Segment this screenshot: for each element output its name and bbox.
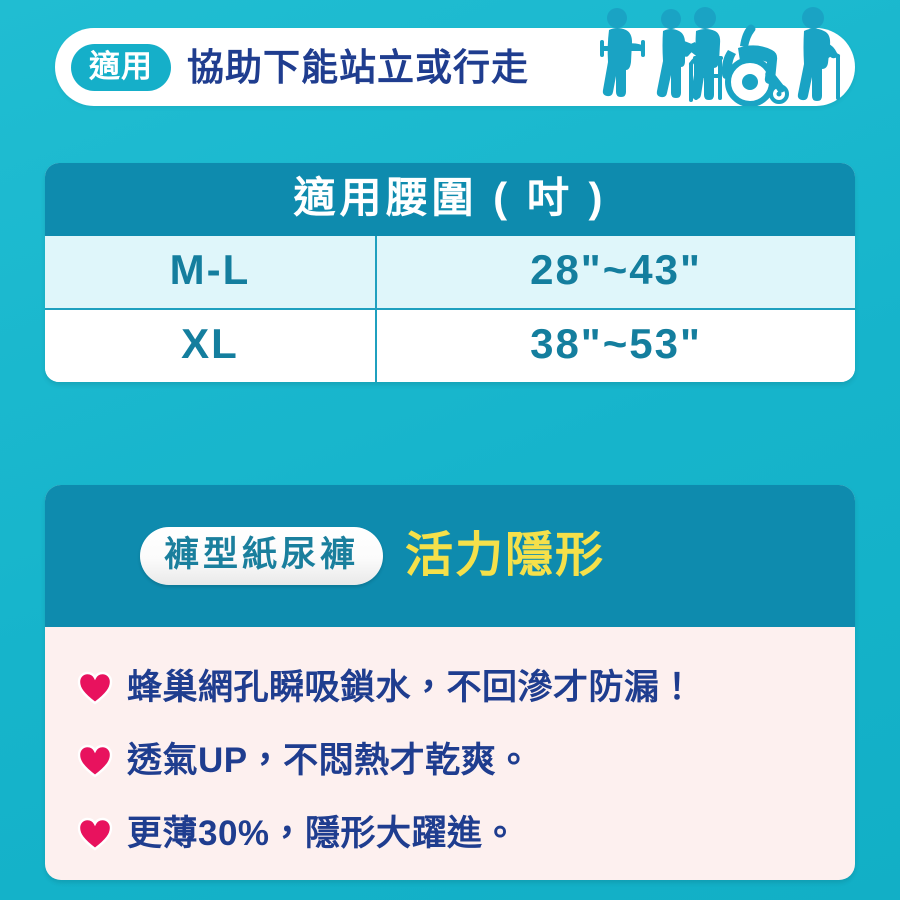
list-item: 蜂巢網孔瞬吸鎖水，不回滲才防漏！ (45, 651, 855, 724)
heart-icon (77, 816, 113, 852)
page-title: 協助下能站立或行走 (187, 49, 529, 86)
product-type-badge: 褲型紙尿褲 (140, 527, 383, 585)
product-header: 褲型紙尿褲 活力隱形 (45, 485, 855, 627)
table-row: XL 38"~53" (45, 310, 855, 382)
heart-icon (77, 670, 113, 706)
feature-text: 透氣UP，不悶熱才乾爽。 (127, 743, 532, 778)
header-content: 適用 協助下能站立或行走 (55, 28, 855, 106)
feature-list: 蜂巢網孔瞬吸鎖水，不回滲才防漏！ 透氣UP，不悶熱才乾爽。 更薄30%，隱形大躍… (45, 627, 855, 870)
size-table: 適用腰圍 ( 吋 ) M-L 28"~43" XL 38"~53" (45, 163, 855, 382)
product-card: 褲型紙尿褲 活力隱形 蜂巢網孔瞬吸鎖水，不回滲才防漏！ 透氣UP，不悶熱才乾爽。 (45, 485, 855, 880)
list-item: 透氣UP，不悶熱才乾爽。 (45, 724, 855, 797)
applicability-badge: 適用 (71, 44, 171, 91)
feature-text: 蜂巢網孔瞬吸鎖水，不回滲才防漏！ (127, 670, 695, 705)
waist-cell: 28"~43" (377, 236, 855, 308)
page-background: 適用 協助下能站立或行走 (0, 0, 900, 900)
feature-text: 更薄30%，隱形大躍進。 (127, 816, 518, 851)
heart-icon (77, 743, 113, 779)
applicability-header-card: 適用 協助下能站立或行走 (55, 28, 855, 106)
product-name: 活力隱形 (405, 532, 605, 580)
waist-cell: 38"~53" (377, 310, 855, 382)
list-item: 更薄30%，隱形大躍進。 (45, 797, 855, 870)
size-cell: XL (45, 310, 377, 382)
table-row: M-L 28"~43" (45, 236, 855, 308)
size-table-header: 適用腰圍 ( 吋 ) (45, 163, 855, 236)
size-cell: M-L (45, 236, 377, 308)
